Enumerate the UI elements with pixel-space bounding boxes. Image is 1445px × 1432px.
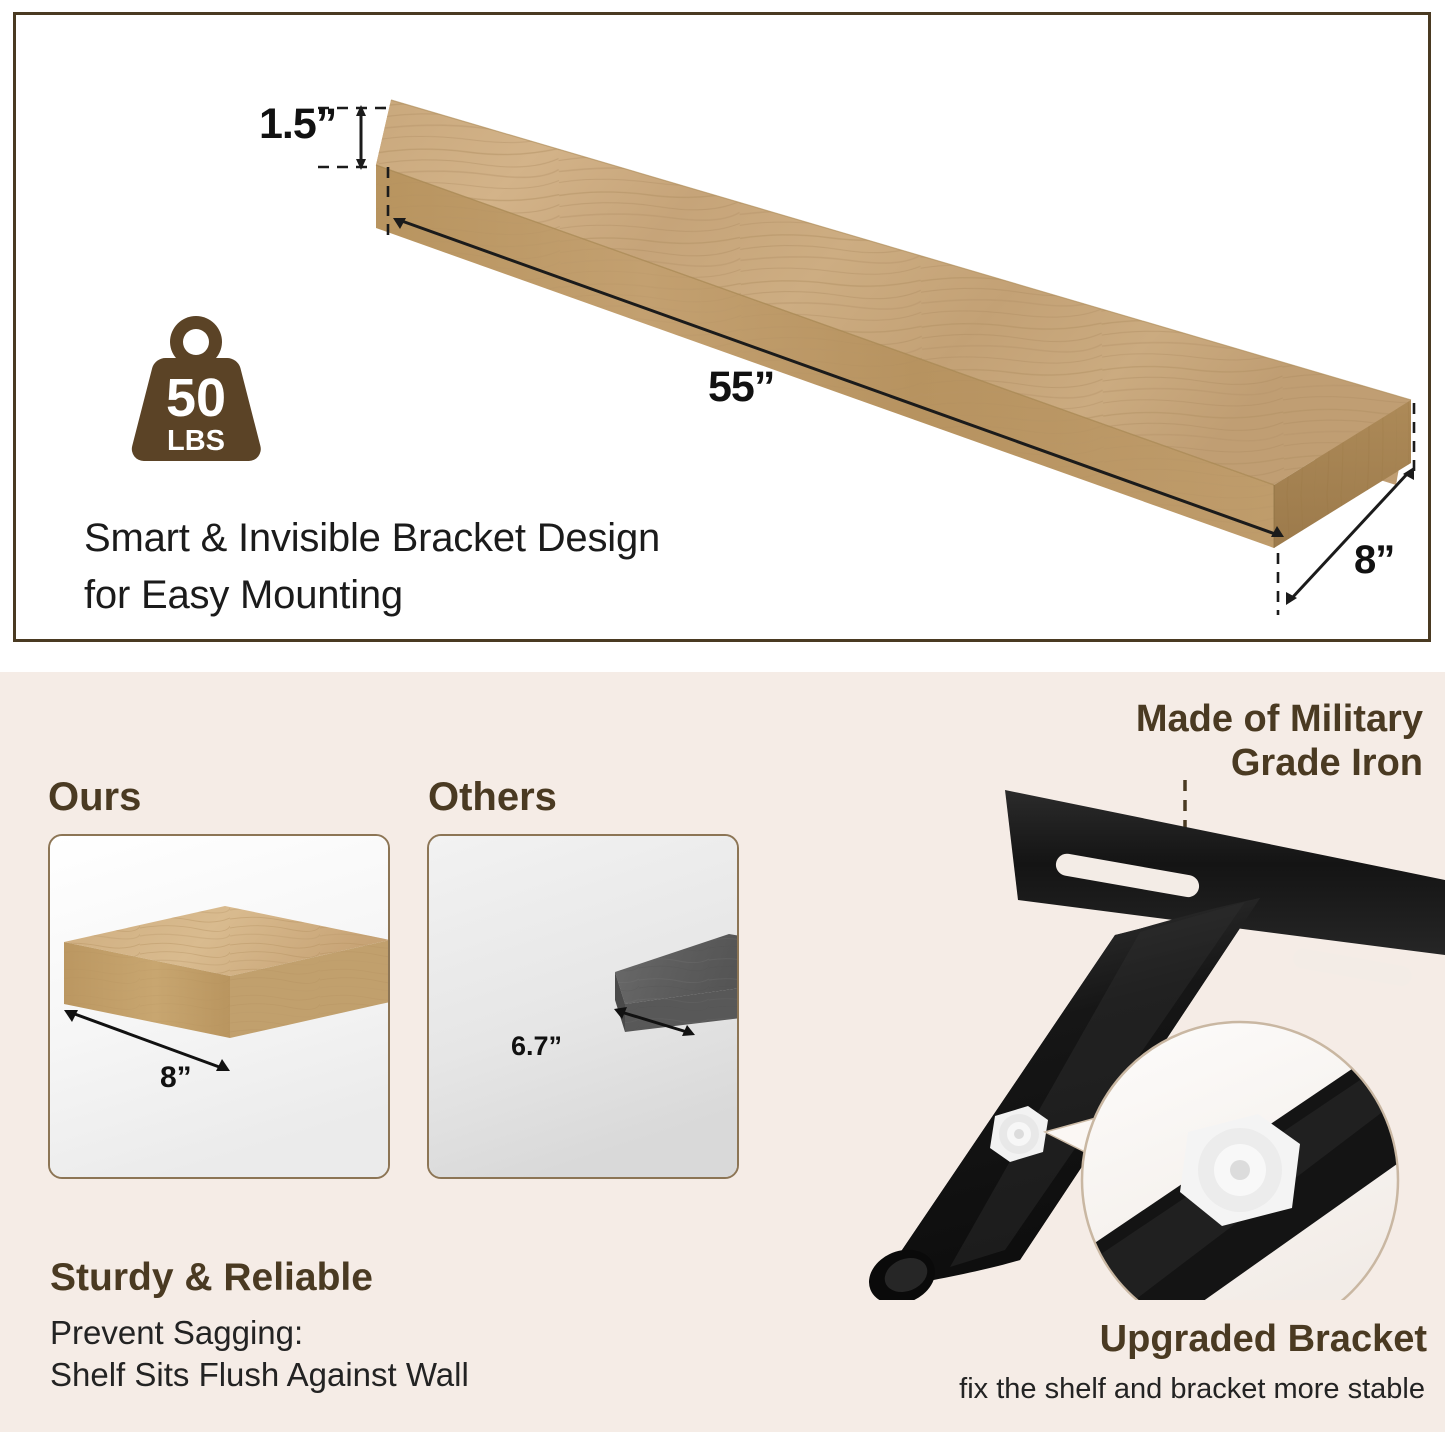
weight-value: 50 [166, 368, 226, 428]
sturdy-reliable-title: Sturdy & Reliable [50, 1256, 373, 1300]
dimension-depth-label: 8” [1354, 538, 1394, 583]
weight-unit: LBS [167, 425, 225, 457]
comparison-card-ours: 8” [48, 834, 390, 1179]
shelf-illustration: 50 LBS 1.5” 55” 8” Smart & Invisible Bra… [16, 15, 1428, 639]
headline-line-1: Smart & Invisible Bracket Design [84, 510, 884, 567]
ours-shelf-image [50, 836, 390, 1179]
weight-icon: 50 LBS [121, 310, 271, 470]
dimension-thickness-label: 1.5” [259, 100, 336, 149]
sturdy-sub-line-2: Shelf Sits Flush Against Wall [50, 1354, 469, 1396]
others-shelf-image [429, 836, 739, 1179]
military-grade-title: Made of Military Grade Iron [863, 697, 1423, 786]
sturdy-reliable-subtitle: Prevent Sagging: Shelf Sits Flush Agains… [50, 1312, 469, 1396]
headline-line-2: for Easy Mounting [84, 567, 884, 624]
others-dimension-label: 6.7” [511, 1031, 562, 1062]
upgraded-bracket-subtitle: fix the shelf and bracket more stable [959, 1373, 1425, 1406]
ours-dimension-label: 8” [160, 1061, 192, 1095]
bracket-illustration [840, 780, 1445, 1300]
comparison-heading-ours: Ours [48, 775, 141, 820]
comparison-heading-others: Others [428, 775, 557, 820]
upgraded-bracket-title: Upgraded Bracket [1100, 1318, 1427, 1361]
military-line-1: Made of Military [863, 697, 1423, 741]
bracket-svg [840, 780, 1445, 1300]
weight-capacity-badge: 50 LBS [121, 310, 271, 470]
dimension-length-label: 55” [708, 363, 774, 412]
top-panel: 50 LBS 1.5” 55” 8” Smart & Invisible Bra… [13, 12, 1431, 642]
sturdy-sub-line-1: Prevent Sagging: [50, 1312, 469, 1354]
top-panel-headline: Smart & Invisible Bracket Design for Eas… [84, 510, 884, 624]
comparison-card-others: 6.7” [427, 834, 739, 1179]
